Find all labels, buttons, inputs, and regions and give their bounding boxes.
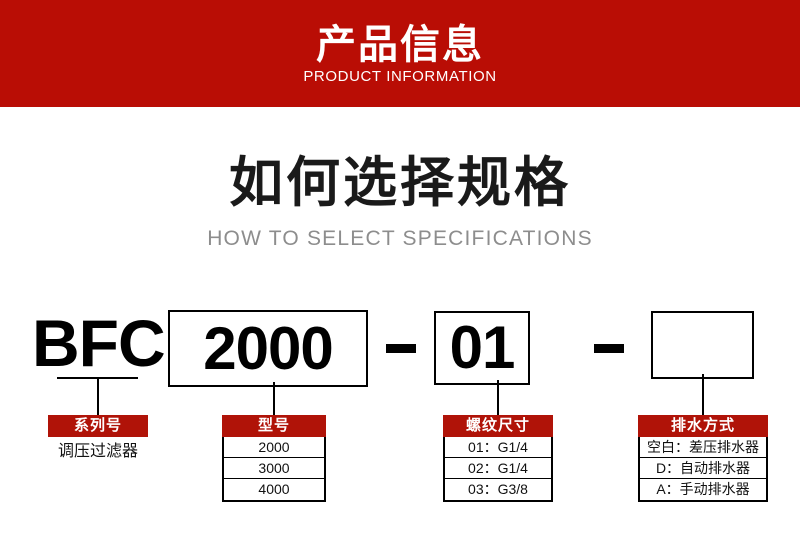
legend-row-model-2[interactable]: 4000 xyxy=(224,479,324,500)
code-box-drain-type[interactable] xyxy=(651,311,754,379)
connector-stem-series xyxy=(97,377,99,415)
legend-header-drain: 排水方式 xyxy=(638,415,768,437)
legend-row-thread-2[interactable]: 03：G3/8 xyxy=(445,479,551,500)
legend-row-drain-0[interactable]: 空白：差压排水器 xyxy=(640,437,766,458)
connector-stem-drain xyxy=(702,374,704,415)
header-title: 产品信息 xyxy=(0,22,800,68)
header-subtitle: PRODUCT INFORMATION xyxy=(0,68,800,86)
connector-stem-model xyxy=(273,382,275,415)
legend-rows-thread: 01：G1/4 02：G1/4 03：G3/8 xyxy=(443,437,553,502)
legend-header-series: 系列号 xyxy=(48,415,148,437)
legend-row-model-0[interactable]: 2000 xyxy=(224,437,324,458)
code-box-model[interactable]: 2000 xyxy=(168,310,368,387)
legend-model-number: 型号 2000 3000 4000 xyxy=(222,415,326,502)
legend-row-drain-1[interactable]: D：自动排水器 xyxy=(640,458,766,479)
connector-stem-thread xyxy=(497,380,499,415)
code-prefix-series: BFC xyxy=(32,305,165,381)
section-title: 如何选择规格 xyxy=(0,152,800,214)
legend-rows-model: 2000 3000 4000 xyxy=(222,437,326,502)
legend-header-model: 型号 xyxy=(222,415,326,437)
legend-header-thread: 螺纹尺寸 xyxy=(443,415,553,437)
section-subtitle: HOW TO SELECT SPECIFICATIONS xyxy=(0,226,800,252)
code-box-thread-size[interactable]: 01 xyxy=(434,311,530,385)
header-banner: 产品信息 PRODUCT INFORMATION xyxy=(0,0,800,107)
legend-thread-size: 螺纹尺寸 01：G1/4 02：G1/4 03：G3/8 xyxy=(443,415,553,502)
legend-row-thread-1[interactable]: 02：G1/4 xyxy=(445,458,551,479)
legend-rows-drain: 空白：差压排水器 D：自动排水器 A：手动排水器 xyxy=(638,437,768,502)
legend-value-series: 调压过滤器 xyxy=(48,437,148,465)
legend-row-thread-0[interactable]: 01：G1/4 xyxy=(445,437,551,458)
legend-row-model-1[interactable]: 3000 xyxy=(224,458,324,479)
legend-row-drain-2[interactable]: A：手动排水器 xyxy=(640,479,766,500)
legend-series-number: 系列号 调压过滤器 xyxy=(48,415,148,465)
code-separator-dash-1 xyxy=(386,344,416,353)
model-code-row: BFC 2000 01 xyxy=(0,305,800,387)
legend-drain-method: 排水方式 空白：差压排水器 D：自动排水器 A：手动排水器 xyxy=(638,415,768,502)
code-separator-dash-2 xyxy=(594,344,624,353)
